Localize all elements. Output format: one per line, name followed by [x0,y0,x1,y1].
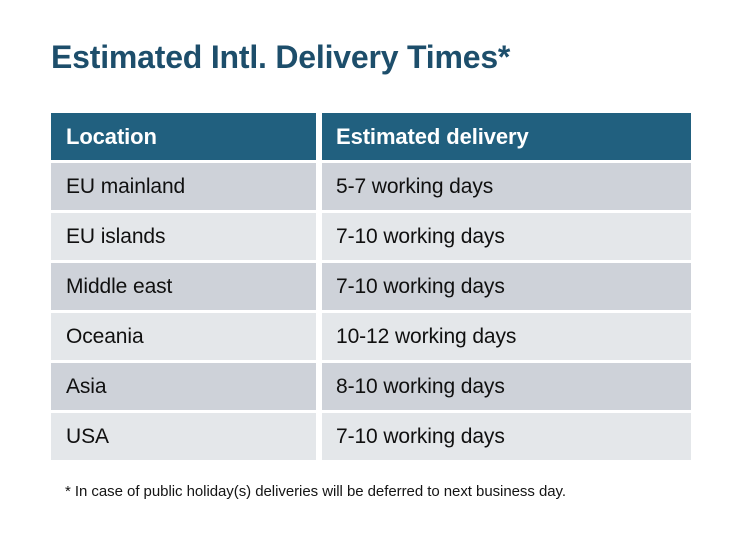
footnote-text: * In case of public holiday(s) deliverie… [65,481,566,503]
cell-delivery: 7-10 working days [322,263,691,310]
table-row: USA 7-10 working days [51,413,691,460]
cell-delivery-text: 10-12 working days [336,325,516,349]
cell-delivery: 5-7 working days [322,163,691,210]
delivery-times-table: Location Estimated delivery EU mainland … [51,113,691,460]
cell-delivery: 7-10 working days [322,413,691,460]
cell-location: Asia [51,363,316,410]
cell-location-text: Oceania [66,325,144,349]
cell-location-text: EU mainland [66,175,185,199]
cell-location-text: EU islands [66,225,165,249]
cell-location: USA [51,413,316,460]
cell-location: EU islands [51,213,316,260]
table-row: EU mainland 5-7 working days [51,163,691,210]
column-header-delivery-label: Estimated delivery [336,124,529,150]
table-header-row: Location Estimated delivery [51,113,691,160]
cell-delivery: 10-12 working days [322,313,691,360]
delivery-times-page: Estimated Intl. Delivery Times* Location… [0,0,745,536]
cell-delivery-text: 7-10 working days [336,225,505,249]
table-row: Middle east 7-10 working days [51,263,691,310]
cell-location-text: Middle east [66,275,172,299]
cell-delivery: 8-10 working days [322,363,691,410]
cell-location: EU mainland [51,163,316,210]
cell-delivery: 7-10 working days [322,213,691,260]
cell-location-text: USA [66,425,109,449]
table-row: Oceania 10-12 working days [51,313,691,360]
cell-location: Oceania [51,313,316,360]
cell-delivery-text: 7-10 working days [336,425,505,449]
column-header-delivery: Estimated delivery [322,113,691,160]
table-row: EU islands 7-10 working days [51,213,691,260]
cell-delivery-text: 7-10 working days [336,275,505,299]
cell-location: Middle east [51,263,316,310]
page-title: Estimated Intl. Delivery Times* [51,36,510,78]
table-row: Asia 8-10 working days [51,363,691,410]
cell-location-text: Asia [66,375,106,399]
cell-delivery-text: 5-7 working days [336,175,493,199]
column-header-location: Location [51,113,316,160]
cell-delivery-text: 8-10 working days [336,375,505,399]
column-header-location-label: Location [66,124,157,150]
